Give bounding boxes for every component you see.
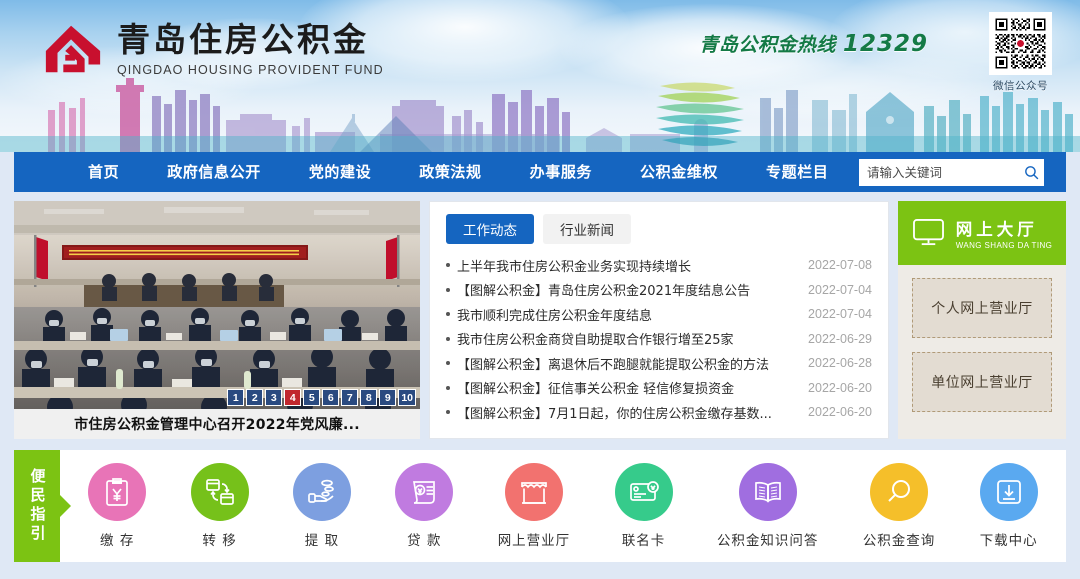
provident-fund-logo-icon <box>42 18 104 80</box>
bullet-icon <box>446 361 450 365</box>
online-hall-title-cn: 网上大厅 <box>956 216 1053 240</box>
wechat-qr-block[interactable]: 微信公众号 <box>989 12 1052 93</box>
online-hall-panel: 网上大厅 WANG SHANG DA TING 个人网上营业厅 单位网上营业厅 <box>898 201 1066 439</box>
nav-item-special-topics[interactable]: 专题栏目 <box>742 152 852 192</box>
news-title[interactable]: 我市住房公积金商贷自助提取合作银行增至25家 <box>457 329 796 348</box>
bullet-icon <box>446 312 450 316</box>
news-item[interactable]: 【图解公积金】征信事关公积金 轻信修复损资金 2022-06-20 <box>446 376 872 401</box>
quick-link-label: 缴 存 <box>100 529 134 549</box>
bullet-icon <box>446 386 450 390</box>
company-online-hall-button[interactable]: 单位网上营业厅 <box>912 352 1052 412</box>
quick-link-query[interactable]: 公积金查询 <box>863 463 936 549</box>
knowledge-book-icon <box>752 476 784 508</box>
quick-link-label: 下载中心 <box>980 529 1038 549</box>
quick-link-joint-card[interactable]: 联名卡 <box>615 463 673 549</box>
news-list: 上半年我市住房公积金业务实现持续增长 2022-07-08 【图解公积金】青岛住… <box>446 253 872 425</box>
quick-link-label: 公积金知识问答 <box>717 529 819 549</box>
quick-links-bar: 便民指引 缴 存 转 移 <box>14 450 1066 562</box>
quick-link-online-hall[interactable]: 网上营业厅 <box>498 463 571 549</box>
carousel-page-9[interactable]: 9 <box>379 389 396 406</box>
transfer-windows-arrows-icon <box>204 476 236 508</box>
quick-links-tab: 便民指引 <box>14 450 60 562</box>
carousel-page-5[interactable]: 5 <box>303 389 320 406</box>
nav-item-services[interactable]: 办事服务 <box>506 152 616 192</box>
quick-link-label: 公积金查询 <box>863 529 936 549</box>
logo-title-cn: 青岛住房公积金 <box>117 21 384 60</box>
news-title[interactable]: 【图解公积金】离退休后不跑腿就能提取公积金的方法 <box>457 354 796 373</box>
quick-link-label: 提 取 <box>305 529 339 549</box>
logo-title-en: QINGDAO HOUSING PROVIDENT FUND <box>117 63 384 77</box>
quick-link-label: 转 移 <box>202 529 236 549</box>
tab-industry-news[interactable]: 行业新闻 <box>543 214 631 244</box>
loan-document-yuan-icon <box>408 476 440 508</box>
news-date: 2022-06-20 <box>808 405 872 419</box>
quick-link-download[interactable]: 下载中心 <box>980 463 1038 549</box>
news-item[interactable]: 【图解公积金】青岛住房公积金2021年度结息公告 2022-07-04 <box>446 278 872 303</box>
search-icon[interactable] <box>1023 164 1040 181</box>
nav-item-rights-protection[interactable]: 公积金维权 <box>616 152 742 192</box>
nav-item-policy-regulations[interactable]: 政策法规 <box>395 152 505 192</box>
hotline-number: 12329 <box>843 31 928 57</box>
news-panel: 工作动态 行业新闻 上半年我市住房公积金业务实现持续增长 2022-07-08 … <box>429 201 889 439</box>
main-content: 1 2 3 4 5 6 7 8 9 10 市住房公积金管理中心召开2022年党风… <box>14 201 1066 439</box>
joint-card-icon <box>628 476 660 508</box>
nav-item-list: 首页 政府信息公开 党的建设 政策法规 办事服务 公积金维权 专题栏目 <box>14 152 852 192</box>
news-item[interactable]: 【图解公积金】7月1日起，你的住房公积金缴存基数... 2022-06-20 <box>446 400 872 425</box>
news-date: 2022-06-20 <box>808 381 872 395</box>
news-item[interactable]: 我市住房公积金商贷自助提取合作银行增至25家 2022-06-29 <box>446 327 872 352</box>
wechat-qr-code-icon <box>989 12 1052 75</box>
quick-link-loan[interactable]: 贷 款 <box>395 463 453 549</box>
quick-link-deposit[interactable]: 缴 存 <box>88 463 146 549</box>
carousel-page-1[interactable]: 1 <box>227 389 244 406</box>
quick-link-label: 网上营业厅 <box>498 529 571 549</box>
bullet-icon <box>446 263 450 267</box>
quick-link-knowledge-qa[interactable]: 公积金知识问答 <box>717 463 819 549</box>
carousel-page-2[interactable]: 2 <box>246 389 263 406</box>
news-item[interactable]: 上半年我市住房公积金业务实现持续增长 2022-07-08 <box>446 253 872 278</box>
online-hall-header: 网上大厅 WANG SHANG DA TING <box>898 201 1066 265</box>
online-hall-shop-icon <box>518 476 550 508</box>
news-title[interactable]: 上半年我市住房公积金业务实现持续增长 <box>457 256 796 275</box>
qr-caption: 微信公众号 <box>989 78 1052 93</box>
nav-item-party-building[interactable]: 党的建设 <box>285 152 395 192</box>
online-hall-buttons: 个人网上营业厅 单位网上营业厅 <box>898 265 1066 425</box>
news-date: 2022-07-08 <box>808 258 872 272</box>
withdraw-hand-coins-icon <box>306 476 338 508</box>
news-title[interactable]: 【图解公积金】7月1日起，你的住房公积金缴存基数... <box>457 403 796 422</box>
carousel-page-8[interactable]: 8 <box>360 389 377 406</box>
news-carousel[interactable]: 1 2 3 4 5 6 7 8 9 10 市住房公积金管理中心召开2022年党风… <box>14 201 420 439</box>
news-title[interactable]: 【图解公积金】征信事关公积金 轻信修复损资金 <box>457 378 796 397</box>
nav-item-home[interactable]: 首页 <box>64 152 143 192</box>
site-logo[interactable]: 青岛住房公积金 QINGDAO HOUSING PROVIDENT FUND <box>42 18 384 80</box>
bullet-icon <box>446 337 450 341</box>
download-box-icon <box>993 476 1025 508</box>
search-box[interactable] <box>859 159 1044 186</box>
news-date: 2022-07-04 <box>808 283 872 297</box>
online-hall-title-en: WANG SHANG DA TING <box>956 241 1053 250</box>
deposit-clipboard-yuan-icon <box>101 476 133 508</box>
quick-links-tab-label: 便民指引 <box>30 468 45 544</box>
carousel-caption[interactable]: 市住房公积金管理中心召开2022年党风廉... <box>14 409 420 439</box>
main-navigation: 首页 政府信息公开 党的建设 政策法规 办事服务 公积金维权 专题栏目 <box>14 152 1066 192</box>
quick-link-transfer[interactable]: 转 移 <box>191 463 249 549</box>
tab-work-updates[interactable]: 工作动态 <box>446 214 534 244</box>
carousel-page-3[interactable]: 3 <box>265 389 282 406</box>
hotline-label: 青岛公积金热线 <box>699 34 836 56</box>
quick-link-label: 贷 款 <box>407 529 441 549</box>
hotline-text: 青岛公积金热线 12329 <box>699 30 928 57</box>
personal-online-hall-button[interactable]: 个人网上营业厅 <box>912 278 1052 338</box>
carousel-page-7[interactable]: 7 <box>341 389 358 406</box>
carousel-page-10[interactable]: 10 <box>398 389 416 406</box>
query-magnifier-icon <box>883 476 915 508</box>
news-date: 2022-06-28 <box>808 356 872 370</box>
carousel-page-4[interactable]: 4 <box>284 389 301 406</box>
quick-link-label: 联名卡 <box>622 529 666 549</box>
site-header: 青岛住房公积金 QINGDAO HOUSING PROVIDENT FUND 青… <box>0 0 1080 152</box>
news-item[interactable]: 【图解公积金】离退休后不跑腿就能提取公积金的方法 2022-06-28 <box>446 351 872 376</box>
quick-links-items: 缴 存 转 移 <box>60 450 1066 562</box>
news-title[interactable]: 我市顺利完成住房公积金年度结息 <box>457 305 796 324</box>
search-input[interactable] <box>867 159 1023 186</box>
carousel-pagination[interactable]: 1 2 3 4 5 6 7 8 9 10 <box>227 389 416 406</box>
bullet-icon <box>446 410 450 414</box>
monitor-icon <box>912 218 945 248</box>
quick-link-withdraw[interactable]: 提 取 <box>293 463 351 549</box>
nav-item-gov-info[interactable]: 政府信息公开 <box>143 152 285 192</box>
bullet-icon <box>446 288 450 292</box>
city-skyline-decoration <box>0 76 1080 152</box>
news-tab-bar: 工作动态 行业新闻 <box>446 214 872 244</box>
news-title[interactable]: 【图解公积金】青岛住房公积金2021年度结息公告 <box>457 280 796 299</box>
news-date: 2022-07-04 <box>808 307 872 321</box>
news-item[interactable]: 我市顺利完成住房公积金年度结息 2022-07-04 <box>446 302 872 327</box>
carousel-page-6[interactable]: 6 <box>322 389 339 406</box>
news-date: 2022-06-29 <box>808 332 872 346</box>
